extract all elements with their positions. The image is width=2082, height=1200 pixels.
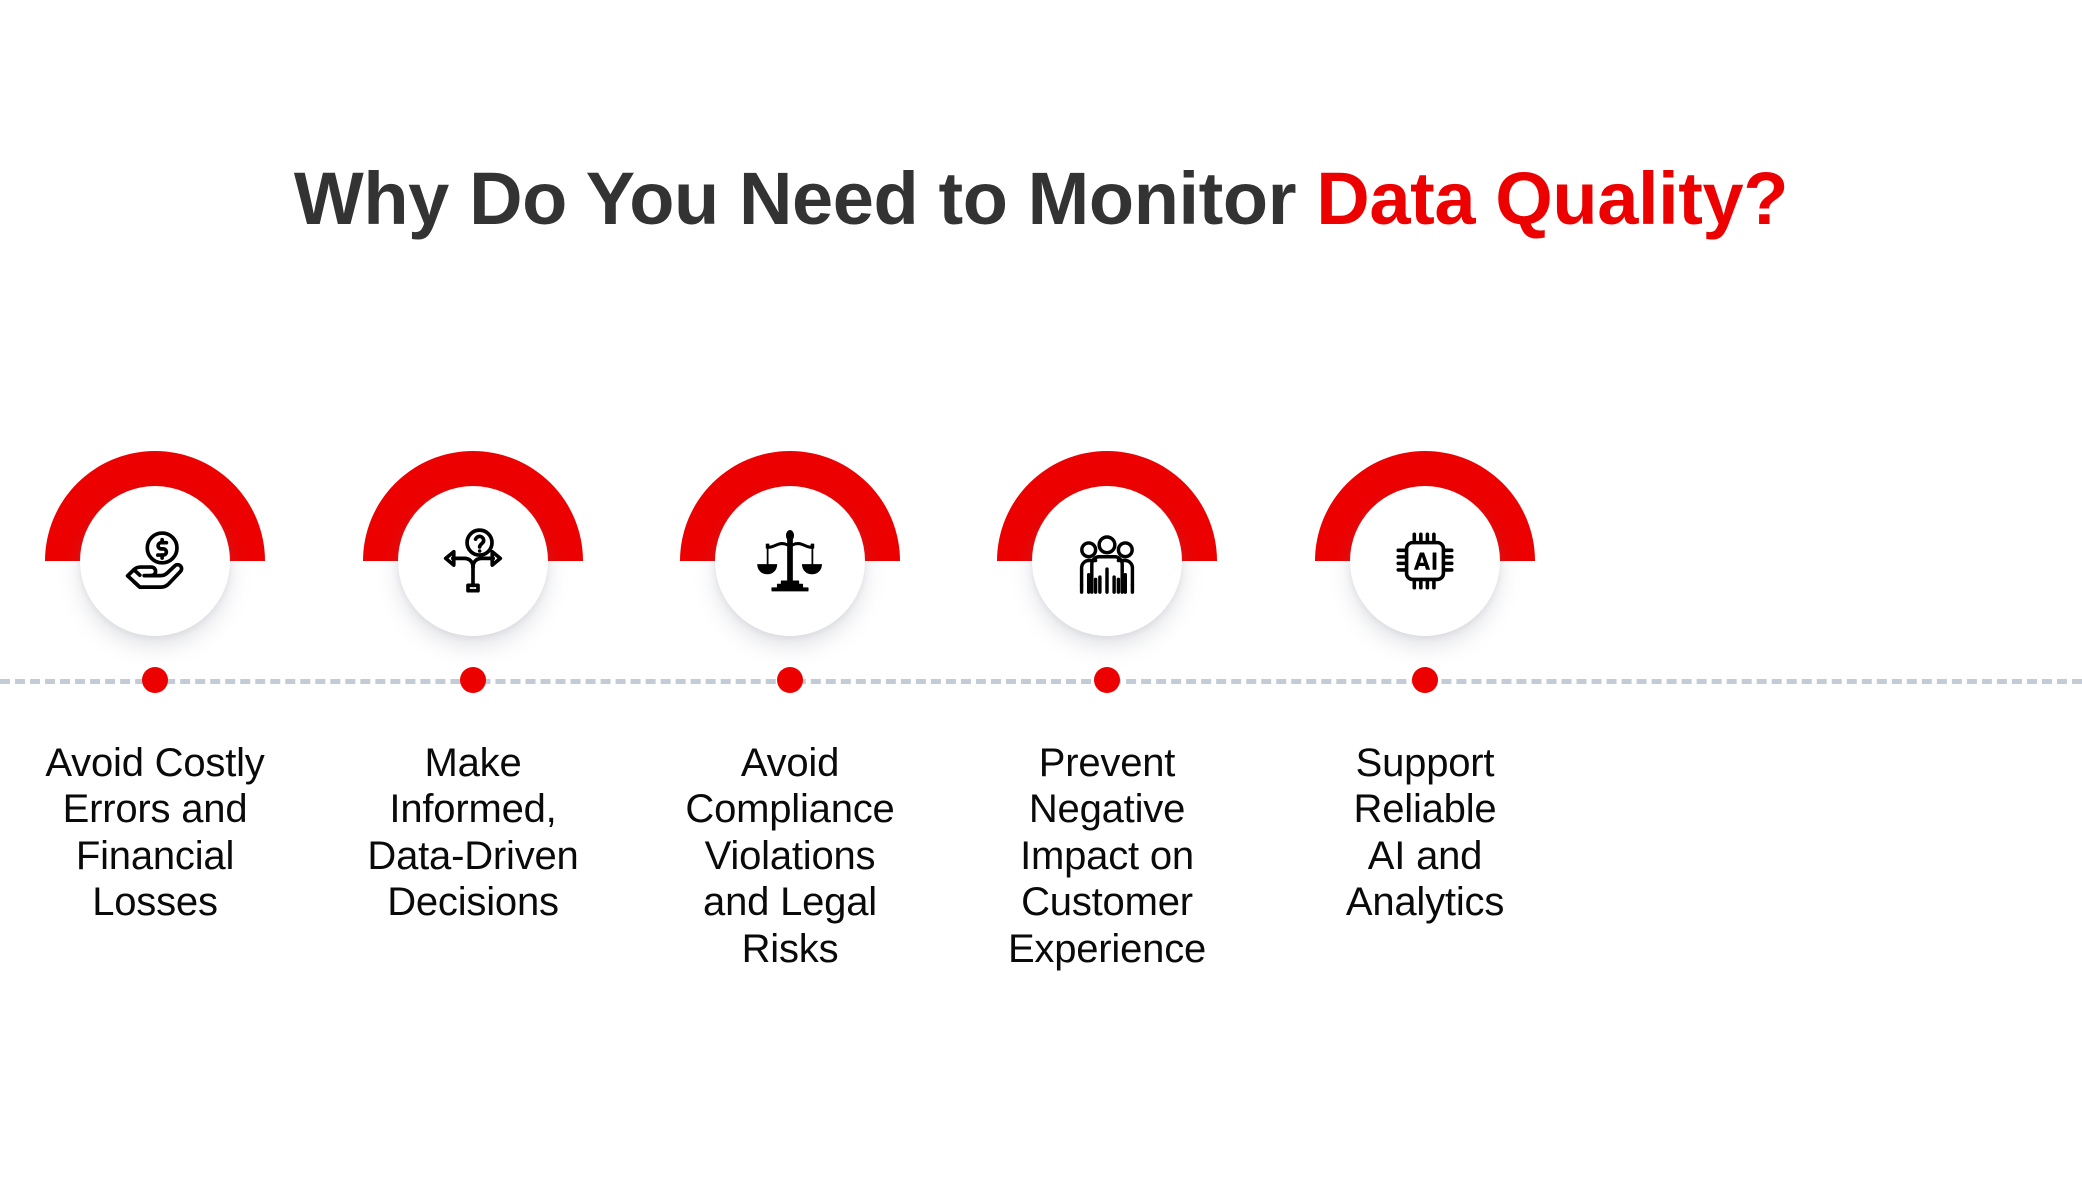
step-badge [659, 430, 921, 692]
badge-circle [715, 486, 865, 636]
infographic-canvas: Why Do You Need to Monitor Data Quality?… [0, 0, 2082, 1200]
step-badge [24, 430, 286, 692]
badge-circle [80, 486, 230, 636]
step-badge [976, 430, 1238, 692]
timeline-milestone-dot[interactable] [460, 667, 486, 693]
timeline-milestone-dot[interactable] [142, 667, 168, 693]
hand-holding-coin-icon [117, 523, 193, 599]
step-label: Avoid Compliance Violations and Legal Ri… [625, 740, 955, 972]
decision-fork-question-icon [435, 523, 511, 599]
step-label: Support Reliable AI and Analytics [1260, 740, 1590, 926]
timeline-milestone-dot[interactable] [1094, 667, 1120, 693]
group-of-people-icon [1069, 523, 1145, 599]
badge-circle [398, 486, 548, 636]
step-badge [342, 430, 604, 692]
badge-circle [1032, 486, 1182, 636]
timeline-step-5[interactable]: Support Reliable AI and Analytics [1225, 0, 1625, 1200]
step-badge [1294, 430, 1556, 692]
step-label: Make Informed, Data-Driven Decisions [308, 740, 638, 926]
ai-chip-icon [1387, 523, 1463, 599]
step-label: Avoid Costly Errors and Financial Losses [0, 740, 320, 926]
badge-circle [1350, 486, 1500, 636]
timeline-milestone-dot[interactable] [777, 667, 803, 693]
timeline-milestone-dot[interactable] [1412, 667, 1438, 693]
balance-scales-icon [752, 523, 828, 599]
timeline-steps: Avoid Costly Errors and Financial Losses… [0, 0, 2082, 1200]
step-label: Prevent Negative Impact on Customer Expe… [942, 740, 1272, 972]
